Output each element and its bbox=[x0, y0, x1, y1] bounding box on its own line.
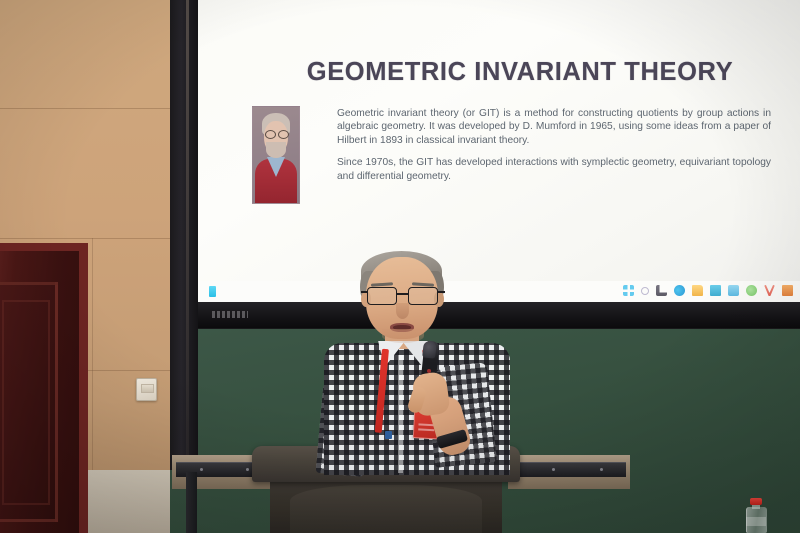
podium-rail-right bbox=[512, 462, 626, 477]
wechat-icon[interactable] bbox=[746, 285, 757, 296]
eyeglass-lens bbox=[367, 287, 397, 305]
mumford-portrait-image bbox=[252, 106, 300, 204]
file-explorer-icon[interactable] bbox=[692, 285, 703, 296]
podium-leg bbox=[186, 472, 197, 533]
slide-title: GEOMETRIC INVARIANT THEORY bbox=[260, 58, 780, 87]
bottle-cap bbox=[750, 498, 762, 505]
taskbar-icon-group bbox=[623, 285, 793, 296]
badge-text-line bbox=[418, 428, 434, 431]
frame-highlight bbox=[186, 0, 189, 470]
mail-icon[interactable] bbox=[710, 285, 721, 296]
windows-start-icon[interactable] bbox=[623, 285, 634, 296]
manufacturer-logo bbox=[212, 311, 248, 318]
tablet-icon[interactable] bbox=[209, 286, 216, 297]
black-frame-column bbox=[170, 0, 198, 470]
wps-writer-icon[interactable] bbox=[764, 285, 775, 296]
task-view-icon[interactable] bbox=[656, 285, 667, 296]
eyeglass-temple bbox=[438, 291, 445, 293]
rail-fastener bbox=[552, 468, 555, 471]
slide-paragraph: Since 1970s, the GIT has developed inter… bbox=[337, 156, 771, 183]
edge-browser-icon[interactable] bbox=[674, 285, 685, 296]
wall-light-switch[interactable] bbox=[136, 378, 157, 401]
pdf-reader-icon[interactable] bbox=[782, 285, 793, 296]
portrait-glasses-icon bbox=[278, 130, 289, 139]
podium-body-front bbox=[290, 485, 482, 533]
door-panel-inner bbox=[2, 300, 50, 505]
portrait-beard bbox=[266, 142, 286, 158]
search-icon[interactable] bbox=[641, 287, 649, 295]
eyeglass-bridge bbox=[397, 293, 409, 295]
bottle-label bbox=[746, 517, 766, 526]
eyeglass-temple bbox=[361, 291, 368, 293]
lanyard-clip bbox=[385, 431, 392, 439]
rail-fastener bbox=[600, 468, 603, 471]
shirt-placket bbox=[398, 355, 403, 473]
portrait-glasses-icon bbox=[265, 130, 276, 139]
switch-rocker-icon bbox=[141, 384, 154, 393]
slide-body-text: Geometric invariant theory (or GIT) is a… bbox=[337, 107, 771, 192]
speaker-chin bbox=[382, 329, 424, 343]
microphone-grille-icon bbox=[422, 340, 437, 358]
water-bottle[interactable] bbox=[745, 498, 767, 533]
speaker-nose bbox=[396, 303, 409, 319]
speaker-presenter bbox=[330, 245, 500, 475]
rail-fastener bbox=[200, 468, 203, 471]
eyeglass-lens bbox=[408, 287, 438, 305]
lecture-hall-scene: GEOMETRIC INVARIANT THEORY Geometric inv… bbox=[0, 0, 800, 533]
notes-icon[interactable] bbox=[728, 285, 739, 296]
rail-fastener bbox=[246, 468, 249, 471]
slide-paragraph: Geometric invariant theory (or GIT) is a… bbox=[337, 107, 771, 147]
